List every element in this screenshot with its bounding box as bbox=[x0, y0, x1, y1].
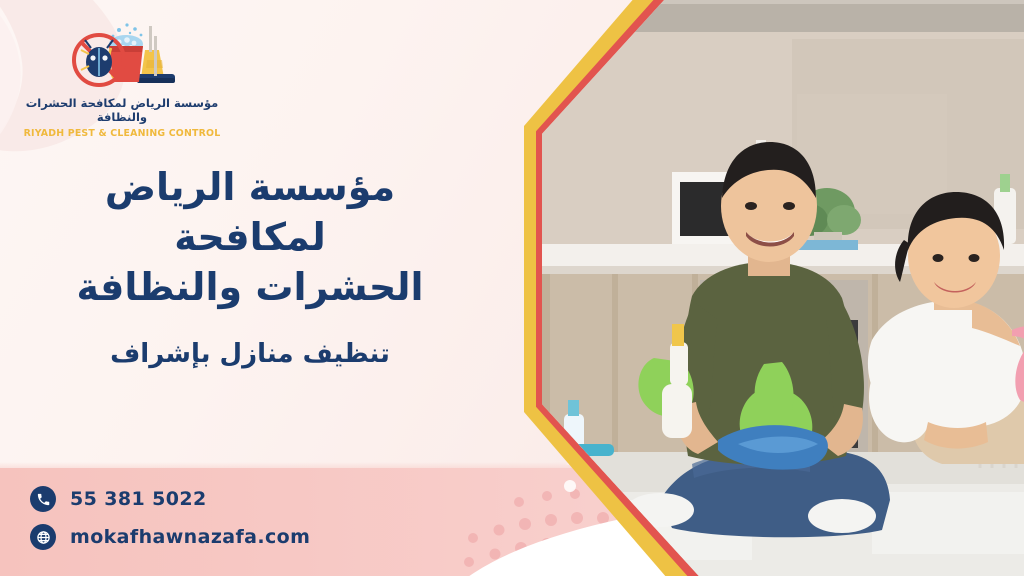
pest-and-cleaning-logo-mark-icon bbox=[67, 20, 177, 94]
contact-website-row[interactable]: mokafhawnazafa.com bbox=[30, 518, 310, 556]
logo-english-name: RIYADH PEST & CLEANING CONTROL bbox=[14, 128, 230, 139]
page-title: مؤسسة الرياض لمكافحة الحشرات والنظافة bbox=[24, 162, 476, 312]
website-url: mokafhawnazafa.com bbox=[70, 526, 310, 548]
promotional-banner: مؤسسة الرياض لمكافحة الحشرات والنظافة RI… bbox=[0, 0, 1024, 576]
subheadline: تنظيف منازل بإشراف bbox=[24, 336, 476, 372]
company-logo[interactable]: مؤسسة الرياض لمكافحة الحشرات والنظافة RI… bbox=[14, 20, 230, 139]
contact-bar: 55 381 5022 mokafhawnazafa.com bbox=[30, 480, 310, 556]
phone-number: 55 381 5022 bbox=[70, 488, 207, 510]
headline-line-2: الحشرات والنظافة bbox=[24, 262, 476, 312]
hero-photo-frame bbox=[524, 0, 1024, 576]
contact-phone-row[interactable]: 55 381 5022 bbox=[30, 480, 310, 518]
headline-line-1: مؤسسة الرياض لمكافحة bbox=[24, 162, 476, 262]
globe-icon bbox=[30, 524, 56, 550]
logo-arabic-name: مؤسسة الرياض لمكافحة الحشرات والنظافة bbox=[14, 96, 230, 125]
phone-icon bbox=[30, 486, 56, 512]
headline-block: مؤسسة الرياض لمكافحة الحشرات والنظافة تن… bbox=[24, 162, 476, 373]
